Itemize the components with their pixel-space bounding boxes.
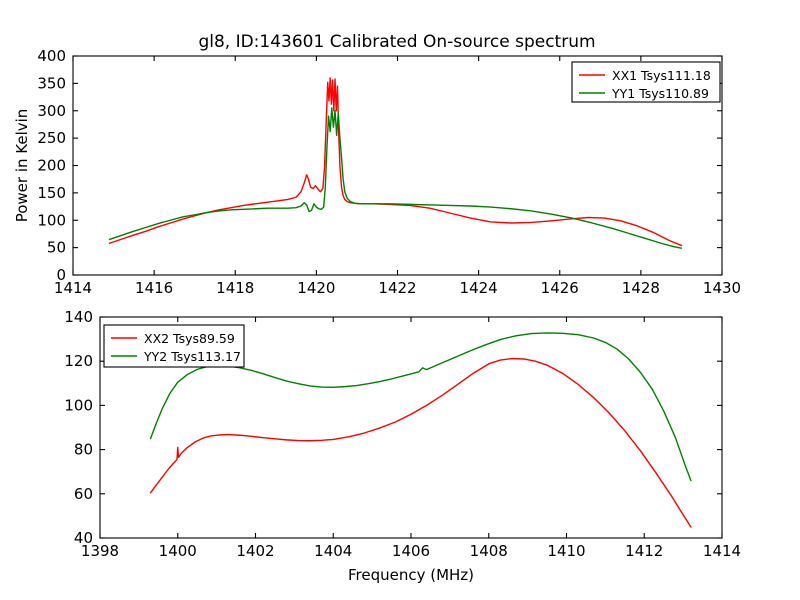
y-tick-label: 250	[37, 129, 66, 147]
y-tick-label: 100	[64, 396, 93, 414]
x-tick-label: 1416	[135, 279, 173, 297]
y-tick-label: 300	[37, 102, 66, 120]
plot-canvas: gl8, ID:143601 Calibrated On-source spec…	[0, 0, 800, 600]
legend-label: YY1 Tsys110.89	[611, 86, 709, 101]
y-tick-label: 200	[37, 157, 66, 175]
y-tick-label: 0	[56, 266, 66, 284]
x-tick-label: 1414	[703, 542, 741, 560]
legend-label: XX2 Tsys89.59	[144, 331, 235, 346]
x-tick-label: 1424	[460, 279, 498, 297]
x-tick-label: 1404	[314, 542, 352, 560]
y-tick-label: 350	[37, 74, 66, 92]
x-tick-label: 1410	[547, 542, 585, 560]
y-tick-label: 40	[74, 529, 93, 547]
x-tick-label: 1422	[378, 279, 416, 297]
x-tick-label: 1418	[216, 279, 254, 297]
x-tick-label: 1430	[703, 279, 741, 297]
y-tick-label: 400	[37, 47, 66, 65]
x-tick-label: 1406	[392, 542, 430, 560]
page-title: gl8, ID:143601 Calibrated On-source spec…	[198, 32, 595, 52]
x-tick-label: 1408	[470, 542, 508, 560]
x-axis-title: Frequency (MHz)	[348, 566, 474, 584]
x-tick-label: 1426	[541, 279, 579, 297]
y-axis-title: Power in Kelvin	[13, 109, 31, 223]
y-tick-label: 120	[64, 352, 93, 370]
y-tick-label: 140	[64, 308, 93, 326]
x-tick-label: 1402	[236, 542, 274, 560]
y-tick-label: 50	[47, 239, 66, 257]
x-tick-label: 1420	[297, 279, 335, 297]
legend-label: YY2 Tsys113.17	[143, 349, 241, 364]
x-tick-label: 1412	[625, 542, 663, 560]
y-tick-label: 100	[37, 211, 66, 229]
spectrum-figure: gl8, ID:143601 Calibrated On-source spec…	[0, 0, 800, 600]
y-tick-label: 150	[37, 184, 66, 202]
y-tick-label: 80	[74, 441, 93, 459]
y-tick-label: 60	[74, 485, 93, 503]
legend-label: XX1 Tsys111.18	[612, 68, 711, 83]
x-tick-label: 1400	[159, 542, 197, 560]
x-tick-label: 1428	[622, 279, 660, 297]
